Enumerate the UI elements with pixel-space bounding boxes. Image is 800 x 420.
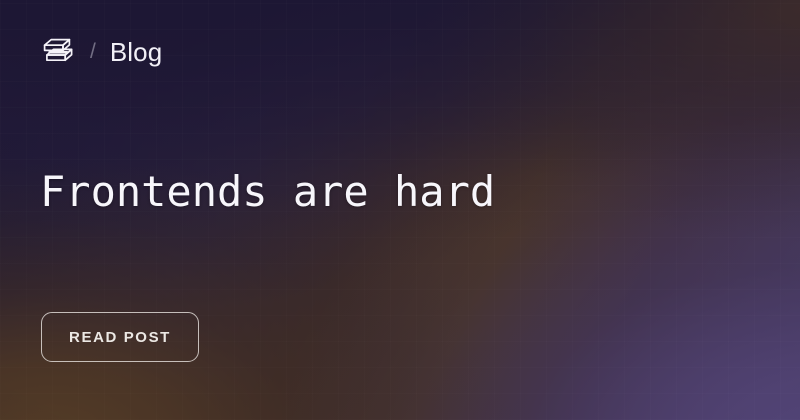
- breadcrumb-separator: /: [90, 41, 96, 62]
- read-post-button-label: READ POST: [69, 330, 171, 345]
- page-title: Frontends are hard: [40, 168, 495, 215]
- card-content: / Blog Frontends are hard READ POST: [0, 0, 800, 420]
- breadcrumb-item-blog[interactable]: Blog: [110, 39, 162, 65]
- stacked-layers-logo-icon[interactable]: [40, 34, 76, 70]
- breadcrumb: / Blog: [40, 30, 162, 74]
- blog-og-card: / Blog Frontends are hard READ POST: [0, 0, 800, 420]
- read-post-button[interactable]: READ POST: [41, 312, 199, 362]
